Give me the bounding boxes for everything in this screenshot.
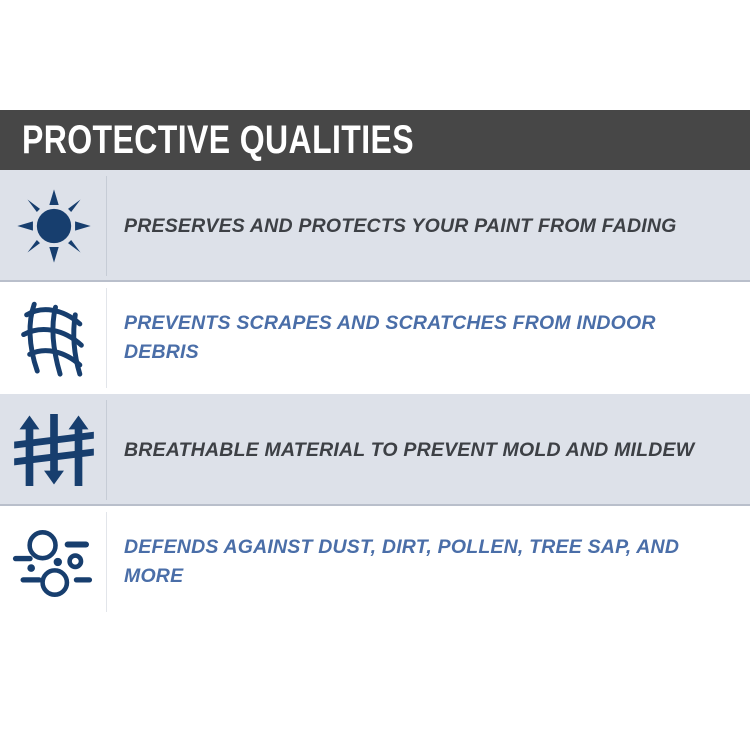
mesh-net-icon — [16, 298, 92, 378]
dust-particles-icon — [11, 527, 97, 597]
feature-label: PRESERVES AND PROTECTS YOUR PAINT FROM F… — [124, 212, 677, 241]
text-cell: DEFENDS AGAINST DUST, DIRT, POLLEN, TREE… — [107, 506, 750, 618]
text-cell: PRESERVES AND PROTECTS YOUR PAINT FROM F… — [107, 170, 750, 282]
feature-label: BREATHABLE MATERIAL TO PREVENT MOLD AND … — [124, 436, 694, 465]
feature-label: PREVENTS SCRAPES AND SCRATCHES FROM INDO… — [124, 309, 724, 367]
page-title: PROTECTIVE QUALITIES — [22, 120, 414, 160]
text-cell: PREVENTS SCRAPES AND SCRATCHES FROM INDO… — [107, 282, 750, 394]
feature-list: PRESERVES AND PROTECTS YOUR PAINT FROM F… — [0, 170, 750, 618]
text-cell: BREATHABLE MATERIAL TO PREVENT MOLD AND … — [107, 394, 750, 506]
icon-cell — [0, 394, 107, 506]
sun-icon — [15, 187, 93, 265]
breathable-airflow-icon — [14, 414, 94, 486]
icon-cell — [0, 506, 107, 618]
protective-qualities-infographic: PROTECTIVE QUALITIES — [0, 0, 750, 750]
feature-row: DEFENDS AGAINST DUST, DIRT, POLLEN, TREE… — [0, 506, 750, 618]
feature-row: BREATHABLE MATERIAL TO PREVENT MOLD AND … — [0, 394, 750, 506]
feature-row: PRESERVES AND PROTECTS YOUR PAINT FROM F… — [0, 170, 750, 282]
icon-cell — [0, 170, 107, 282]
header-bar: PROTECTIVE QUALITIES — [0, 110, 750, 170]
icon-cell — [0, 282, 107, 394]
feature-label: DEFENDS AGAINST DUST, DIRT, POLLEN, TREE… — [124, 533, 724, 591]
feature-row: PREVENTS SCRAPES AND SCRATCHES FROM INDO… — [0, 282, 750, 394]
